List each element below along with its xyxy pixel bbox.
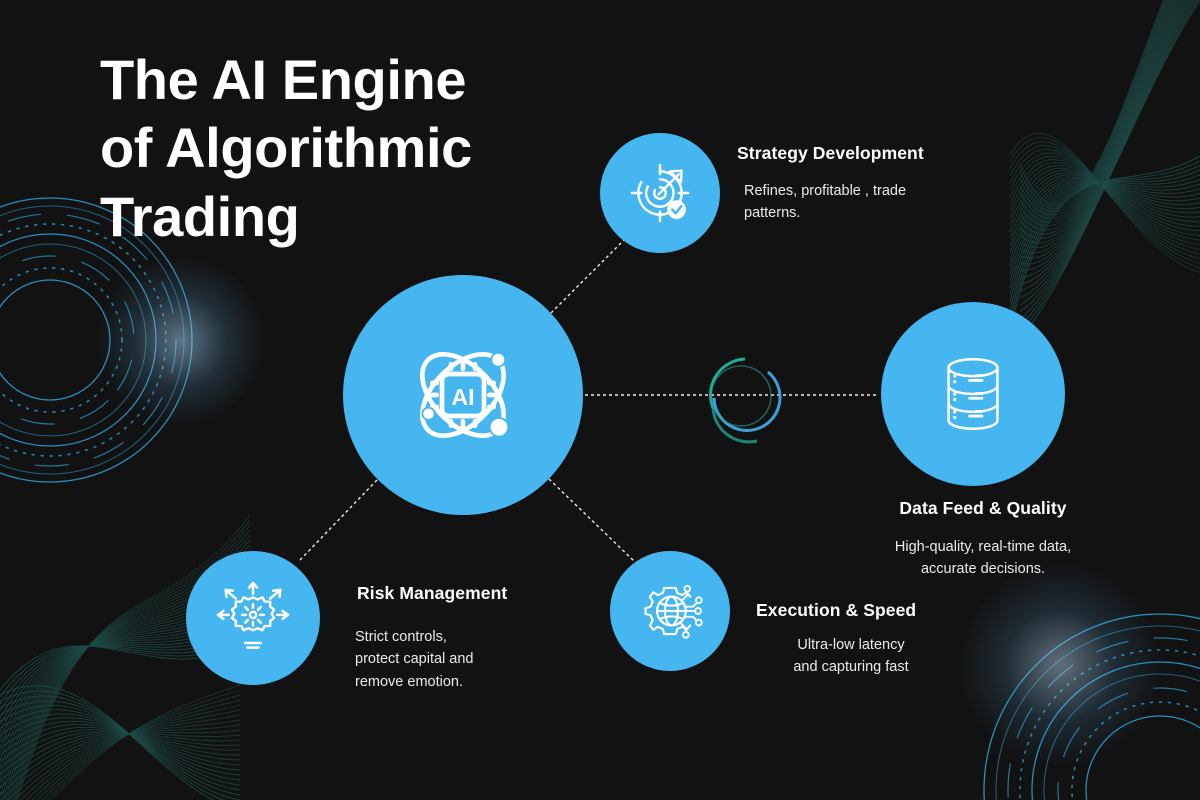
title-line-1: The AI Engine: [100, 46, 472, 114]
node-data-feed-quality[interactable]: [881, 302, 1065, 486]
body-risk-management: Strict controls, protect capital and rem…: [355, 626, 575, 693]
label-strategy-development: Strategy Development: [737, 143, 924, 164]
connector-core-to-execution: [549, 479, 635, 562]
gear-arrows-outward-icon: [214, 579, 292, 657]
page-title: The AI Engine of Algorithmic Trading: [100, 46, 472, 251]
body-line: Ultra-low latency: [748, 634, 954, 656]
connector-core-to-risk: [300, 480, 377, 560]
body-data-feed-quality: High-quality, real-time data, accurate d…: [866, 536, 1100, 581]
connector-core-to-strategy: [551, 240, 624, 313]
body-line: protect capital and: [355, 648, 575, 670]
label-data-feed-quality: Data Feed & Quality: [877, 498, 1089, 519]
body-line: Refines, profitable , trade: [744, 180, 984, 202]
body-strategy-development: Refines, profitable , trade patterns.: [744, 180, 984, 225]
node-execution-speed[interactable]: [610, 551, 730, 671]
gear-globe-circuit-icon: [634, 575, 706, 647]
body-line: remove emotion.: [355, 671, 575, 693]
body-line: and capturing fast: [748, 656, 954, 678]
label-execution-speed: Execution & Speed: [756, 600, 916, 621]
body-line: patterns.: [744, 202, 984, 224]
node-risk-management[interactable]: [186, 551, 320, 685]
chip-label: AI: [451, 384, 474, 410]
body-execution-speed: Ultra-low latency and capturing fast: [748, 634, 954, 679]
infographic-canvas: The AI Engine of Algorithmic Trading: [0, 0, 1200, 800]
body-line: accurate decisions.: [866, 558, 1100, 580]
center-node-ai-engine[interactable]: AI: [343, 275, 583, 515]
ai-atom-chip-icon: AI: [388, 320, 538, 470]
body-line: High-quality, real-time data,: [866, 536, 1100, 558]
database-cylinder-icon: [926, 347, 1020, 441]
label-risk-management: Risk Management: [357, 583, 507, 604]
title-line-2: of Algorithmic: [100, 114, 472, 182]
direction-arrows: [218, 583, 288, 619]
node-strategy-development[interactable]: [600, 133, 720, 253]
mid-ring-decoration: [711, 359, 780, 442]
target-arrow-check-icon: [624, 157, 696, 229]
title-line-3: Trading: [100, 183, 472, 251]
body-line: Strict controls,: [355, 626, 575, 648]
